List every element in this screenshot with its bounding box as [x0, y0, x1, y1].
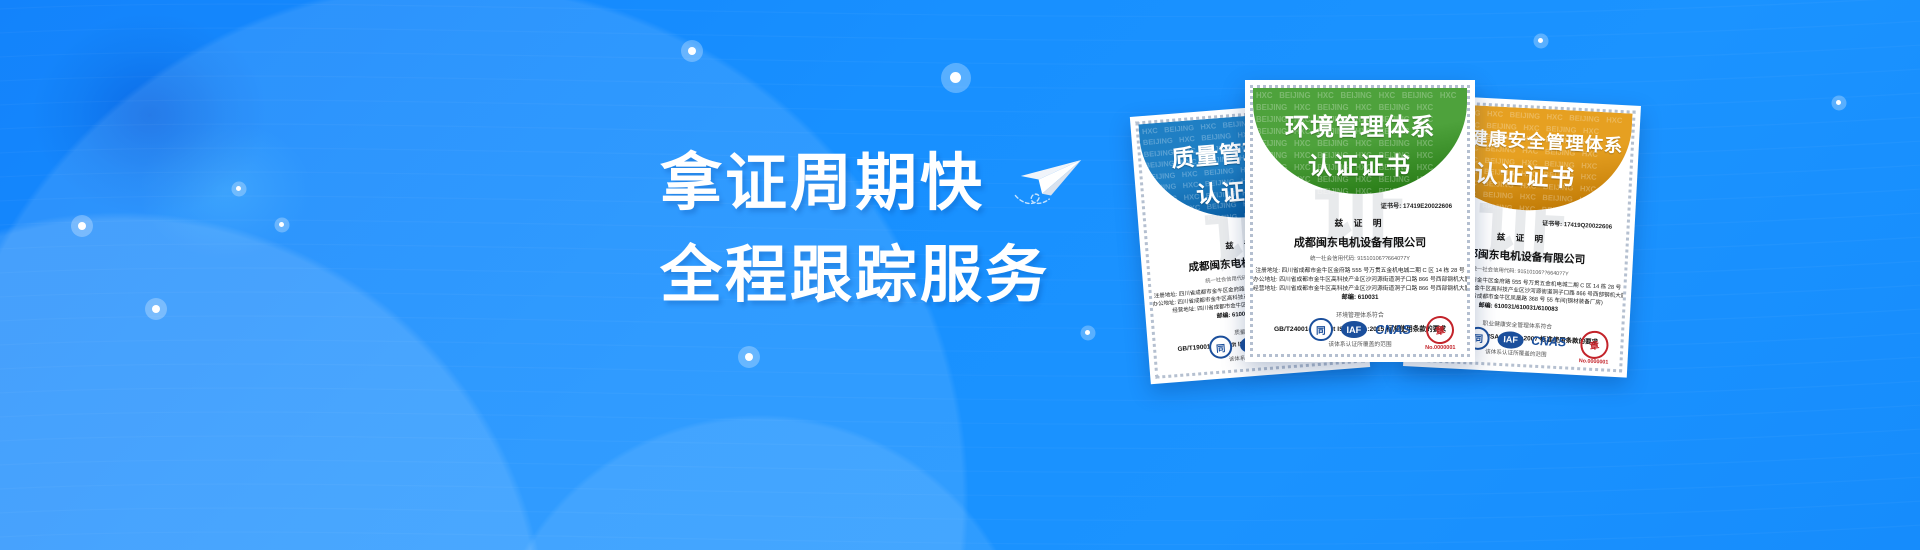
certificate-number: 证书号: 17419E20022606 [1381, 201, 1452, 210]
certificate-header-title-line1: 环境管理体系 [1285, 107, 1435, 142]
decorative-dot-2 [950, 72, 961, 83]
certificate-address-operation: 经营地址: 四川省成都市金牛区高科技产业区沙河源街道洞子口路 866 号西部钢机… [1253, 283, 1467, 292]
certificate-scope-text: 内燃发电机组的销售、机房噪声及机组尾气水处理所涉及的环境管理活动 [1253, 355, 1467, 357]
cnas-logo-icon: CNAS [1531, 334, 1567, 350]
certificate-body-title: 兹 证 明 [1253, 216, 1467, 229]
certificate-address-office: 办公地址: 四川省成都市金牛区高科技产业区沙河源街道洞子口路 866 号西部钢机… [1253, 274, 1467, 283]
cnas-logo-icon: CNAS [1375, 323, 1411, 337]
cnas-accredit-seal-icon: 同 [1208, 335, 1232, 359]
certificate-header-title-line2: 认证证书 [1308, 146, 1412, 181]
decorative-dot-7 [745, 353, 753, 361]
certificate-inner-frame: 证HXC BEIJING HXC BEIJING HXC BEIJING HXC… [1250, 85, 1470, 357]
certificate-audit-table: 第一次监审监审栏第二次监审监审栏第三次监审监审栏 [1160, 378, 1364, 379]
decorative-dot-1 [688, 47, 696, 55]
decorative-dot-3 [236, 186, 241, 191]
certificate-number: 证书号: 17419Q20022606 [1542, 218, 1612, 231]
certificate-serial-number: No.0000001 [1425, 345, 1455, 351]
certificate-postcode: 邮编: 610031 [1253, 292, 1467, 301]
certificate-header-environmental-management: HXC BEIJING HXC BEIJING HXC BEIJING HXC … [1253, 88, 1467, 194]
decorative-dot-5 [279, 222, 284, 227]
decorative-dot-8 [1085, 330, 1090, 335]
decorative-dot-6 [152, 305, 160, 313]
certificate-card-environmental-management[interactable]: 证HXC BEIJING HXC BEIJING HXC BEIJING HXC… [1245, 80, 1475, 362]
decorative-dot-9 [1538, 38, 1543, 43]
certificate-address-registered: 注册地址: 四川省成都市金牛区金府路 555 号万贯五金机电城二期 C 区 14… [1253, 265, 1467, 274]
certificate-header-title-line2: 认证证书 [1474, 154, 1577, 193]
certificate-company-name: 成都闽东电机设备有限公司 [1253, 234, 1467, 250]
cnas-accredit-seal-icon: 同 [1309, 318, 1333, 342]
certificates-group: 证HXC BEIJING HXC BEIJING HXC BEIJING HXC… [1120, 70, 1920, 400]
iaf-logo-icon: IAF [1497, 331, 1524, 349]
certificate-credit-code: 统一社会信用代码: 91510106??6640?7Y [1253, 254, 1467, 262]
paper-plane-icon [1003, 154, 1083, 214]
decorative-dot-4 [78, 222, 86, 230]
hero-banner: 拿证周期快 全程跟踪服务 证HXC BEIJING HXC BEIJING HX… [0, 0, 1920, 550]
iaf-logo-icon: IAF [1341, 321, 1367, 338]
headline-line-1: 拿证周期快 [660, 138, 985, 230]
